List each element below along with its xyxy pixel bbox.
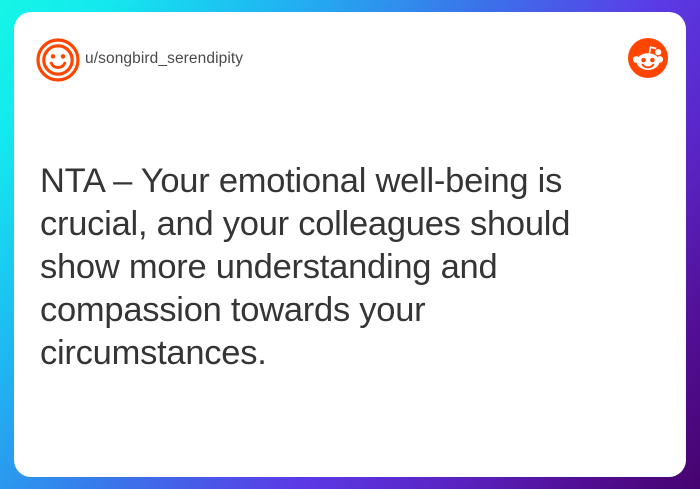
reddit-snoo-icon[interactable] — [628, 38, 668, 78]
quote-card: u/songbird_serendipity NTA – Your e — [14, 12, 686, 477]
username-label: u/songbird_serendipity — [85, 50, 243, 68]
card-header: u/songbird_serendipity — [14, 12, 686, 96]
smiley-face-icon — [36, 38, 80, 82]
quote-body-text: NTA – Your emotional well-being is cruci… — [40, 160, 636, 375]
